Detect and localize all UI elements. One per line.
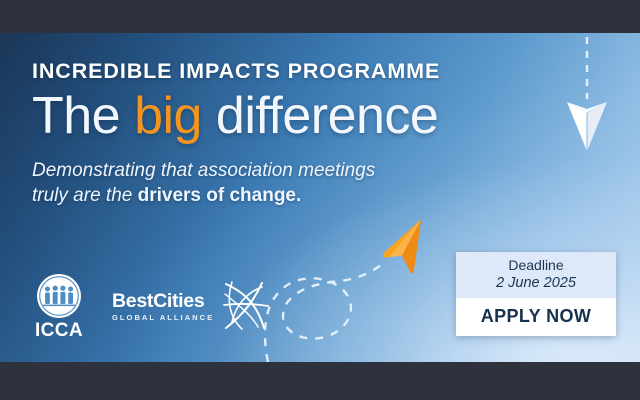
paper-plane-descending-icon xyxy=(566,100,608,152)
letterbox-bar-bottom xyxy=(0,362,640,400)
paper-plane-ascending-icon xyxy=(383,215,433,273)
deadline-panel: Deadline 2 June 2025 xyxy=(456,252,616,298)
bestcities-tagline: GLOBAL ALLIANCE xyxy=(112,314,214,322)
letterbox-bar-top xyxy=(0,0,640,33)
icca-wordmark: ICCA xyxy=(35,321,83,340)
dashed-looping-trail xyxy=(265,261,386,362)
logo-row: ICCA BestCities GLOBAL ALLIANCE xyxy=(28,273,272,340)
subhead-line2-bold: drivers of change. xyxy=(138,185,302,206)
bestcities-starburst-icon xyxy=(218,278,272,332)
bestcities-name: BestCities xyxy=(112,292,204,312)
incredible-impacts-banner: INCREDIBLE IMPACTS PROGRAMME The big dif… xyxy=(0,0,640,400)
subhead-line1: Demonstrating that association meetings xyxy=(32,160,375,181)
deadline-date: 2 June 2025 xyxy=(462,274,610,292)
headline-part1: The xyxy=(32,87,134,145)
bestcities-wordmark-block: BestCities GLOBAL ALLIANCE xyxy=(112,292,214,322)
icca-logo: ICCA xyxy=(28,273,90,340)
subhead-line2-italic: truly are the xyxy=(32,185,138,206)
subheadline: Demonstrating that association meetingst… xyxy=(32,158,512,208)
icca-people-circle-icon xyxy=(36,273,82,319)
banner-artwork-stage: INCREDIBLE IMPACTS PROGRAMME The big dif… xyxy=(0,33,640,362)
cta-panel: Deadline 2 June 2025 APPLY NOW xyxy=(456,252,616,336)
page-title: The big difference xyxy=(32,89,532,144)
headline-copy-block: INCREDIBLE IMPACTS PROGRAMME The big dif… xyxy=(32,61,532,208)
headline-accent-word: big xyxy=(134,87,202,145)
bestcities-logo: BestCities GLOBAL ALLIANCE xyxy=(112,278,272,340)
eyebrow-heading: INCREDIBLE IMPACTS PROGRAMME xyxy=(32,61,532,83)
headline-part2: difference xyxy=(202,87,438,145)
apply-now-button[interactable]: APPLY NOW xyxy=(456,298,616,336)
deadline-label: Deadline xyxy=(462,257,610,274)
